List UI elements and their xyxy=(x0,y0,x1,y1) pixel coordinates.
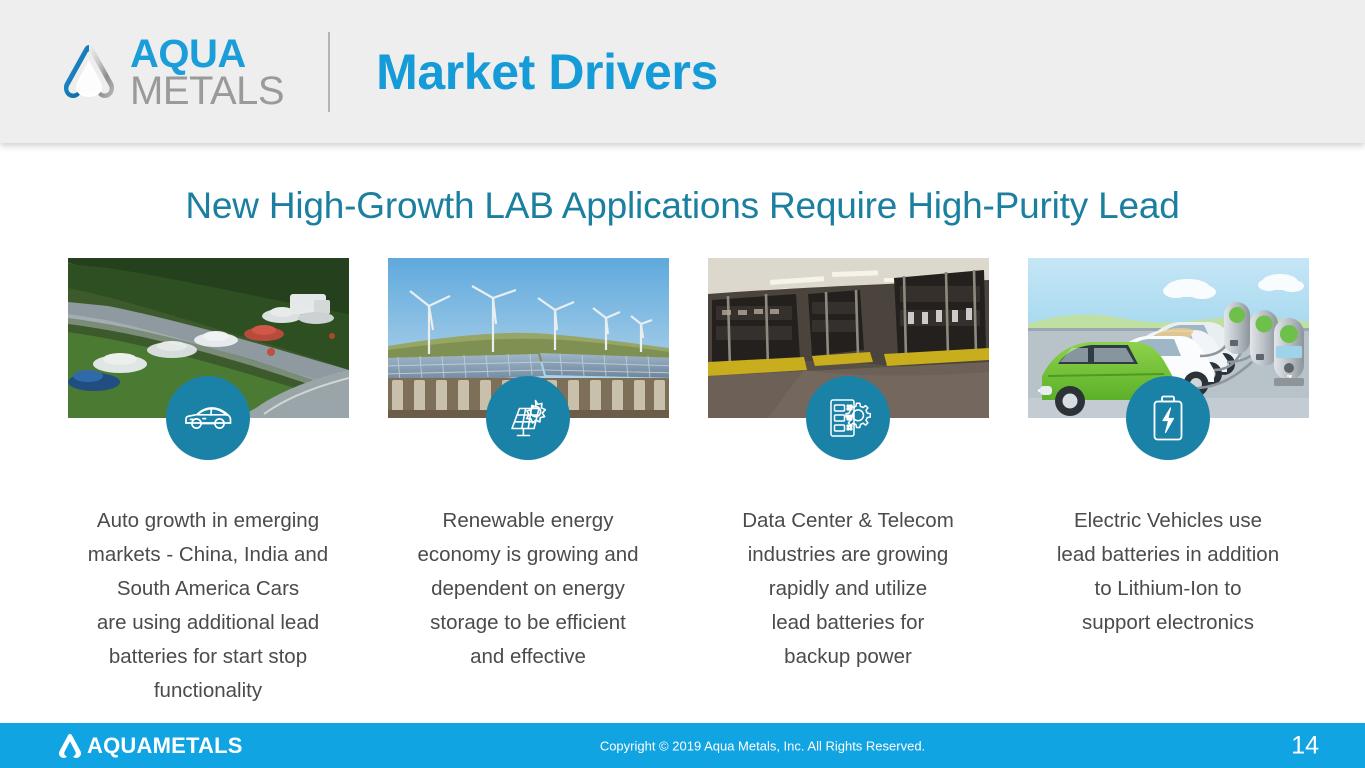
driver-columns: Auto growth in emerging markets - China,… xyxy=(0,258,1365,708)
caption-auto: Auto growth in emerging markets - China,… xyxy=(58,504,358,708)
media-auto xyxy=(68,258,349,418)
caption-line: to Lithium-Ion to xyxy=(1018,572,1318,606)
caption-line: functionality xyxy=(58,674,358,708)
solar-panel-sun-icon xyxy=(486,376,570,460)
header-wordmark: AQUA METALS xyxy=(130,36,284,110)
caption-line: Renewable energy xyxy=(378,504,678,538)
media-datacenter xyxy=(708,258,989,418)
page-number: 14 xyxy=(1291,731,1319,760)
caption-line: lead batteries for xyxy=(698,606,998,640)
caption-line: dependent on energy xyxy=(378,572,678,606)
caption-line: support electronics xyxy=(1018,606,1318,640)
server-gear-icon xyxy=(806,376,890,460)
copyright-text: Copyright © 2019 Aqua Metals, Inc. All R… xyxy=(0,738,1365,753)
caption-line: South America Cars xyxy=(58,572,358,606)
battery-bolt-icon xyxy=(1126,376,1210,460)
media-ev xyxy=(1028,258,1309,418)
caption-line: rapidly and utilize xyxy=(698,572,998,606)
car-icon xyxy=(166,376,250,460)
caption-line: backup power xyxy=(698,640,998,674)
caption-line: lead batteries in addition xyxy=(1018,538,1318,572)
caption-line: markets - China, India and xyxy=(58,538,358,572)
header-brand-block: AQUA METALS Market Drivers xyxy=(58,0,718,143)
driver-column-renewable: Renewable energy economy is growing and … xyxy=(368,258,688,708)
section-heading: New High-Growth LAB Applications Require… xyxy=(0,185,1365,227)
caption-line: Auto growth in emerging xyxy=(58,504,358,538)
driver-column-auto: Auto growth in emerging markets - China,… xyxy=(48,258,368,708)
caption-datacenter: Data Center & Telecom industries are gro… xyxy=(698,504,998,674)
caption-line: storage to be efficient xyxy=(378,606,678,640)
caption-line: economy is growing and xyxy=(378,538,678,572)
caption-renewable: Renewable energy economy is growing and … xyxy=(378,504,678,674)
slide-header: AQUA METALS Market Drivers xyxy=(0,0,1365,143)
aqua-metals-droplet-logo-icon xyxy=(58,41,120,103)
caption-line: Data Center & Telecom xyxy=(698,504,998,538)
header-vertical-divider xyxy=(328,32,330,112)
caption-line: and effective xyxy=(378,640,678,674)
driver-column-ev: Electric Vehicles use lead batteries in … xyxy=(1008,258,1328,708)
wordmark-aqua: AQUA xyxy=(130,36,284,73)
caption-line: batteries for start stop xyxy=(58,640,358,674)
caption-line: industries are growing xyxy=(698,538,998,572)
driver-column-datacenter: Data Center & Telecom industries are gro… xyxy=(688,258,1008,708)
page-title: Market Drivers xyxy=(376,43,718,101)
caption-line: are using additional lead xyxy=(58,606,358,640)
caption-ev: Electric Vehicles use lead batteries in … xyxy=(1018,504,1318,640)
media-renewable xyxy=(388,258,669,418)
slide-body: New High-Growth LAB Applications Require… xyxy=(0,143,1365,718)
wordmark-metals: METALS xyxy=(130,73,284,110)
caption-line: Electric Vehicles use xyxy=(1018,504,1318,538)
slide-footer: AQUAMETALS Copyright © 2019 Aqua Metals,… xyxy=(0,723,1365,768)
